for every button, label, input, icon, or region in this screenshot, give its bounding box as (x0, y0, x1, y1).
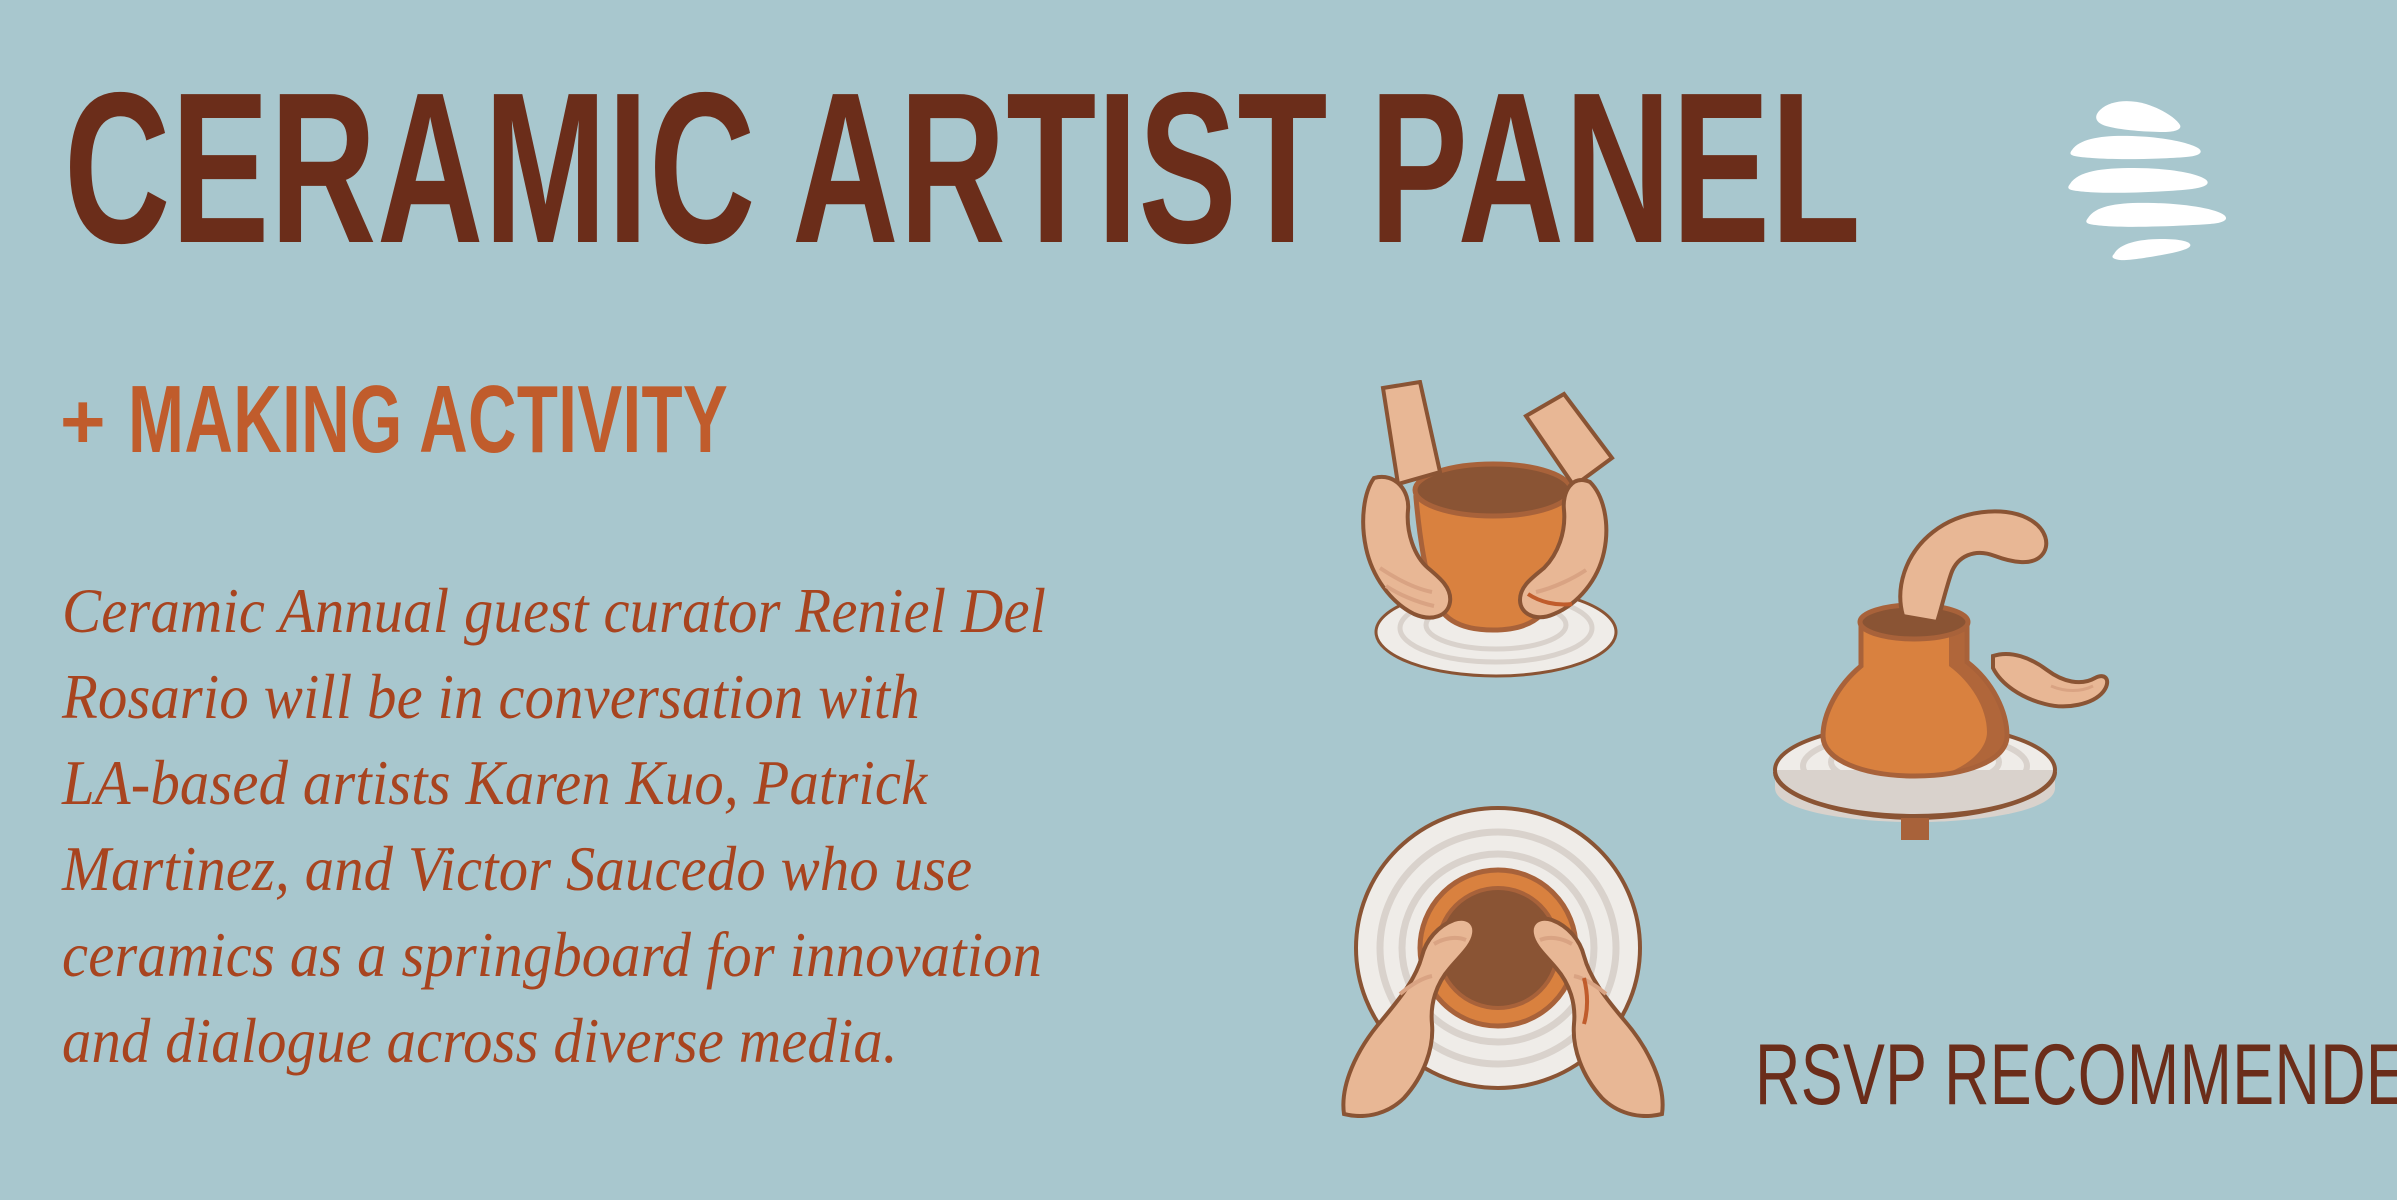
illustration-hand-in-pot-icon (1755, 470, 2115, 840)
description-line: Ceramic Annual guest curator Reniel Del (62, 568, 1243, 654)
subtitle-row: + MAKING ACTIVITY (60, 372, 985, 468)
description-line: and dialogue across diverse media. (62, 998, 1243, 1084)
description-line: ceramics as a springboard for innovation (62, 912, 1243, 998)
description-line: LA-based artists Karen Kuo, Patrick (62, 740, 1243, 826)
subtitle: MAKING ACTIVITY (128, 372, 728, 468)
description-line: Martinez, and Victor Saucedo who use (62, 826, 1243, 912)
coil-pot-logo-icon (2058, 78, 2258, 278)
illustration-overhead-hands-bowl-icon (1338, 798, 1668, 1118)
poster-canvas: CERAMIC ARTIST PANEL + MAKING ACTIVITY C… (0, 0, 2397, 1200)
illustration-hands-shaping-pot-icon (1328, 380, 1658, 690)
description-paragraph: Ceramic Annual guest curator Reniel Del … (62, 568, 1243, 1084)
description-line: Rosario will be in conversation with (62, 654, 1243, 740)
page-title: CERAMIC ARTIST PANEL (64, 68, 1297, 268)
plus-icon: + (60, 382, 106, 460)
rsvp-note: RSVP RECOMMENDED (1755, 1032, 2397, 1118)
